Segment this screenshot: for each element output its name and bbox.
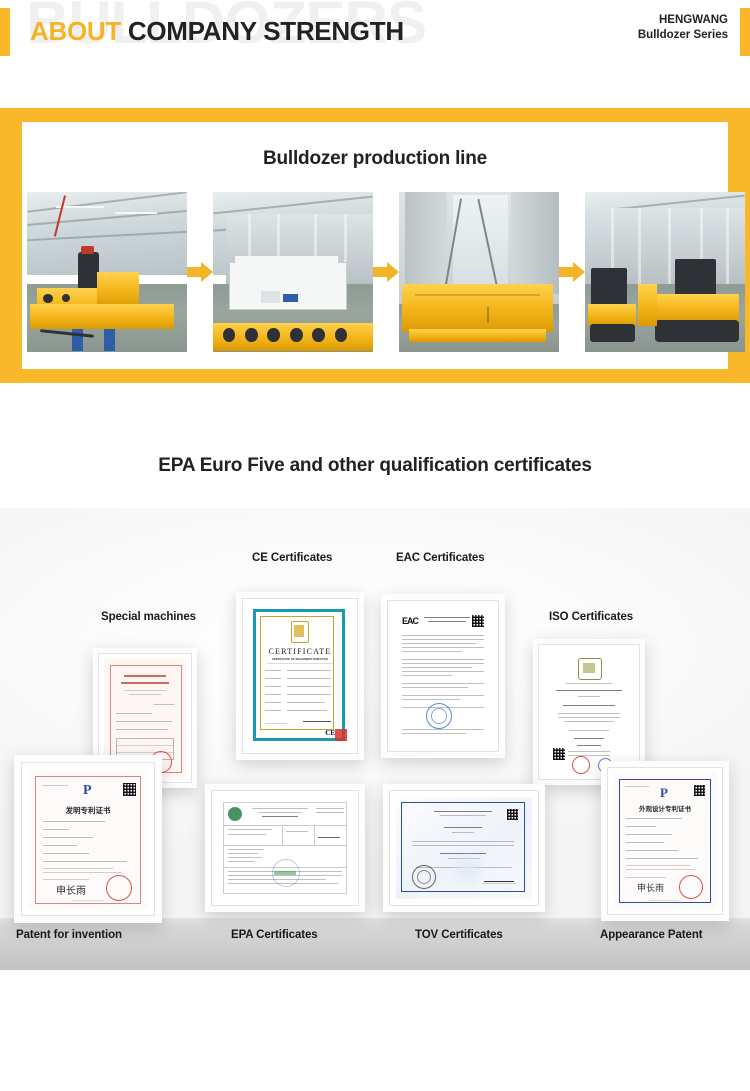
production-step-photo-3: [399, 192, 559, 352]
certificates-title: EPA Euro Five and other qualification ce…: [0, 455, 750, 477]
certificate-label-iso: ISO Certificates: [549, 611, 633, 623]
production-line-steps: [22, 189, 728, 354]
patent-invention-signature: 申长雨: [56, 882, 86, 897]
page-header: BULLDOZERS ABOUT COMPANY STRENGTH HENGWA…: [0, 0, 750, 62]
brand-name: HENGWANG: [638, 13, 728, 28]
production-step-photo-2: [213, 192, 373, 352]
certificate-label-eac: EAC Certificates: [396, 552, 485, 564]
page-title-accent: ABOUT: [30, 16, 121, 46]
ce-certificate-subheading: CERTIFICATE OF MACHINERY DIRECTIVE: [264, 657, 336, 661]
certificate-frame-eac[interactable]: EAC: [381, 594, 505, 758]
production-step-photo-4: [585, 192, 745, 352]
eac-mark-icon: EAC: [402, 616, 418, 626]
certificate-frame-appearance-patent[interactable]: P 外观设计专利证书 申长雨: [601, 761, 729, 921]
ce-certificate-heading: CERTIFICATE: [264, 647, 336, 656]
certificate-label-epa: EPA Certificates: [231, 929, 318, 941]
production-line-title: Bulldozer production line: [22, 122, 728, 170]
certificate-frame-ce[interactable]: CERTIFICATE CERTIFICATE OF MACHINERY DIR…: [236, 592, 364, 760]
stage-shelf: [0, 916, 750, 970]
certificate-label-appearance: Appearance Patent: [600, 929, 702, 941]
header-accent-bar-right: [740, 8, 750, 56]
certificate-label-ce: CE Certificates: [252, 552, 332, 564]
brand-block: HENGWANG Bulldozer Series: [638, 13, 728, 43]
ce-mark-icon: CE: [325, 729, 335, 737]
production-step-photo-1: [27, 192, 187, 352]
certificate-label-patent: Patent for invention: [16, 929, 122, 941]
certificate-label-special: Special machines: [101, 611, 196, 623]
arrow-right-icon: [187, 259, 213, 285]
arrow-right-icon: [559, 259, 585, 285]
patent-logo-icon: P: [660, 785, 668, 801]
about-company-strength-page: BULLDOZERS ABOUT COMPANY STRENGTH HENGWA…: [0, 0, 750, 1091]
patent-logo-icon: P: [83, 783, 92, 799]
certificates-stage: CERTIFICATE CERTIFICATE OF MACHINERY DIR…: [0, 508, 750, 970]
header-accent-bar-left: [0, 8, 10, 56]
certificate-label-tov: TOV Certificates: [415, 929, 503, 941]
appearance-patent-signature: 申长雨: [637, 881, 664, 894]
certificate-frame-patent-invention[interactable]: P 发明专利证书 申长雨: [14, 755, 162, 923]
page-title: ABOUT COMPANY STRENGTH: [30, 0, 404, 62]
arrow-right-icon: [373, 259, 399, 285]
appearance-patent-heading: 外观设计专利证书: [627, 803, 703, 813]
page-title-rest: COMPANY STRENGTH: [128, 16, 404, 46]
production-line-inner: Bulldozer production line: [22, 122, 728, 369]
brand-series: Bulldozer Series: [638, 28, 728, 43]
production-line-panel: Bulldozer production line: [0, 108, 750, 383]
certificate-frame-epa[interactable]: [205, 784, 365, 912]
patent-invention-heading: 发明专利证书: [44, 805, 132, 816]
certificate-frame-tov[interactable]: [383, 784, 545, 912]
